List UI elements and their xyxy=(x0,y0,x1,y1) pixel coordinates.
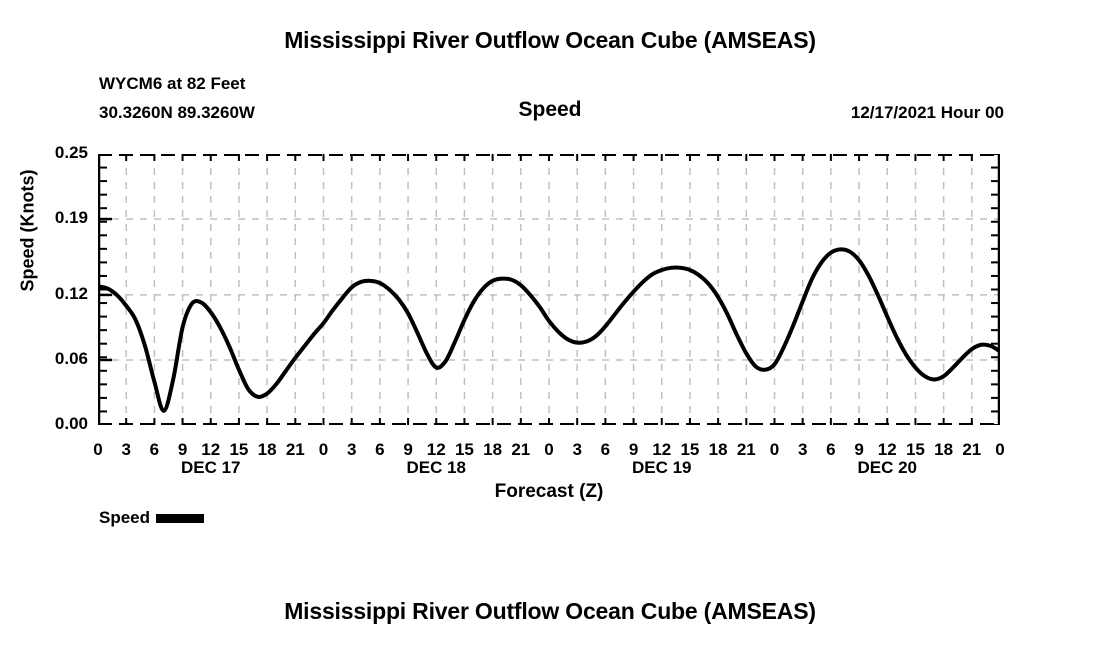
x-day-label: DEC 20 xyxy=(827,458,947,478)
x-tick-label: 0 xyxy=(534,440,564,460)
x-tick-label: 0 xyxy=(985,440,1015,460)
x-tick-label: 6 xyxy=(590,440,620,460)
x-tick-label: 21 xyxy=(957,440,987,460)
footer-title: Mississippi River Outflow Ocean Cube (AM… xyxy=(0,598,1100,625)
x-tick-label: 6 xyxy=(365,440,395,460)
x-day-label: DEC 18 xyxy=(376,458,496,478)
x-tick-label: 3 xyxy=(337,440,367,460)
x-tick-label: 15 xyxy=(449,440,479,460)
model-run-time: 12/17/2021 Hour 00 xyxy=(851,103,1004,123)
x-tick-label: 18 xyxy=(929,440,959,460)
x-tick-label: 12 xyxy=(421,440,451,460)
y-tick-label: 0.12 xyxy=(28,284,88,304)
x-tick-label: 9 xyxy=(844,440,874,460)
x-tick-label: 6 xyxy=(139,440,169,460)
x-tick-label: 0 xyxy=(309,440,339,460)
x-tick-label: 18 xyxy=(703,440,733,460)
y-tick-label: 0.06 xyxy=(28,349,88,369)
x-day-label: DEC 19 xyxy=(602,458,722,478)
x-tick-label: 3 xyxy=(562,440,592,460)
x-tick-label: 15 xyxy=(900,440,930,460)
x-tick-label: 21 xyxy=(280,440,310,460)
x-tick-label: 21 xyxy=(731,440,761,460)
page-title: Mississippi River Outflow Ocean Cube (AM… xyxy=(0,27,1100,54)
x-tick-label: 3 xyxy=(788,440,818,460)
chart-legend: Speed xyxy=(99,508,204,528)
x-tick-label: 12 xyxy=(872,440,902,460)
y-tick-label: 0.25 xyxy=(28,143,88,163)
x-axis-label: Forecast (Z) xyxy=(98,481,1000,503)
x-tick-label: 12 xyxy=(647,440,677,460)
x-tick-label: 6 xyxy=(816,440,846,460)
legend-line-swatch xyxy=(156,514,204,523)
x-tick-label: 9 xyxy=(168,440,198,460)
x-day-label: DEC 17 xyxy=(151,458,271,478)
x-tick-label: 9 xyxy=(393,440,423,460)
x-tick-label: 3 xyxy=(111,440,141,460)
x-tick-label: 0 xyxy=(760,440,790,460)
x-tick-label: 21 xyxy=(506,440,536,460)
x-tick-label: 9 xyxy=(619,440,649,460)
y-tick-label: 0.19 xyxy=(28,208,88,228)
y-tick-label: 0.00 xyxy=(28,414,88,434)
speed-line-chart xyxy=(98,154,1000,425)
x-tick-label: 18 xyxy=(478,440,508,460)
x-tick-label: 15 xyxy=(675,440,705,460)
chart-plot-area xyxy=(98,154,1000,425)
x-tick-label: 18 xyxy=(252,440,282,460)
legend-label: Speed xyxy=(99,508,150,528)
x-tick-label: 0 xyxy=(83,440,113,460)
x-tick-label: 12 xyxy=(196,440,226,460)
x-tick-label: 15 xyxy=(224,440,254,460)
station-name: WYCM6 at 82 Feet xyxy=(99,74,245,94)
